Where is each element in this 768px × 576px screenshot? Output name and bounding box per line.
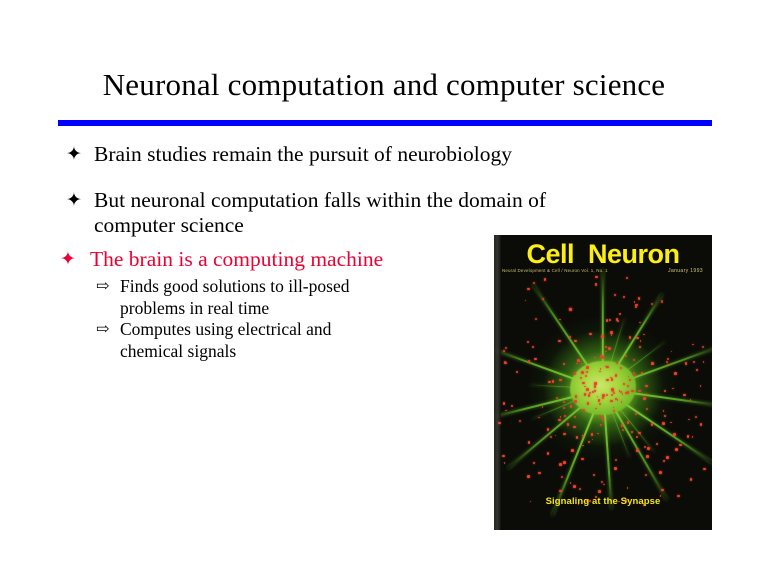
- synaptic-punctum: [638, 390, 641, 393]
- synaptic-punctum: [585, 375, 587, 377]
- synaptic-punctum: [647, 447, 650, 450]
- neuron-soma: [570, 361, 636, 415]
- synaptic-punctum: [611, 334, 613, 336]
- outline-arrow-bullet-icon: ⇨: [96, 319, 109, 341]
- synaptic-punctum: [639, 346, 642, 349]
- synaptic-punctum: [558, 340, 561, 343]
- synaptic-punctum: [600, 424, 602, 426]
- synaptic-punctum: [703, 361, 705, 363]
- synaptic-punctum: [581, 458, 584, 461]
- synaptic-punctum: [685, 362, 688, 365]
- synaptic-punctum: [581, 363, 583, 365]
- synaptic-punctum: [570, 482, 572, 484]
- synaptic-punctum: [505, 347, 507, 349]
- synaptic-punctum: [535, 318, 537, 320]
- synaptic-punctum: [651, 362, 654, 365]
- synaptic-punctum: [609, 319, 612, 322]
- synaptic-punctum: [563, 363, 566, 366]
- synaptic-punctum: [700, 385, 702, 387]
- synaptic-punctum: [667, 358, 669, 360]
- synaptic-punctum: [631, 431, 634, 434]
- synaptic-punctum: [516, 371, 519, 374]
- sub-list-item-line: chemical signals: [120, 341, 420, 363]
- slide-canvas: { "slide": { "title": "Neuronal computat…: [0, 0, 768, 576]
- sub-list-item-line: Finds good solutions to ill-posed: [120, 276, 420, 298]
- synaptic-punctum: [542, 406, 544, 408]
- synaptic-punctum: [498, 422, 501, 425]
- synaptic-punctum: [625, 355, 627, 357]
- synaptic-punctum: [659, 471, 662, 474]
- synaptic-punctum: [560, 416, 562, 418]
- synaptic-punctum: [675, 448, 678, 451]
- synaptic-punctum: [663, 410, 665, 412]
- list-item-line: Brain studies remain the pursuit of neur…: [94, 142, 768, 167]
- synaptic-punctum: [588, 394, 591, 397]
- synaptic-punctum: [690, 478, 693, 481]
- synaptic-punctum: [646, 455, 649, 458]
- synaptic-punctum: [595, 276, 598, 279]
- spacer: [0, 167, 768, 188]
- synaptic-punctum: [602, 419, 604, 421]
- synaptic-punctum: [599, 403, 601, 405]
- synaptic-punctum: [602, 356, 605, 359]
- list-item[interactable]: ✦ Brain studies remain the pursuit of ne…: [0, 142, 768, 167]
- synaptic-punctum: [635, 413, 637, 415]
- synaptic-punctum: [646, 408, 648, 410]
- synaptic-punctum: [693, 361, 695, 363]
- synaptic-punctum: [505, 410, 507, 412]
- synaptic-punctum: [636, 337, 639, 340]
- synaptic-punctum: [598, 490, 601, 493]
- synaptic-punctum: [615, 459, 617, 461]
- synaptic-punctum: [503, 402, 506, 405]
- synaptic-punctum: [703, 468, 706, 471]
- synaptic-punctum: [525, 300, 527, 302]
- synaptic-punctum: [504, 362, 507, 365]
- synaptic-punctum: [651, 303, 653, 305]
- synaptic-punctum: [550, 436, 552, 438]
- synaptic-punctum: [687, 435, 690, 438]
- synaptic-punctum: [656, 443, 659, 446]
- synaptic-punctum: [619, 313, 622, 316]
- synaptic-punctum: [664, 390, 667, 393]
- synaptic-punctum: [633, 359, 635, 361]
- synaptic-punctum: [671, 351, 673, 353]
- synaptic-punctum: [559, 463, 562, 466]
- synaptic-punctum: [571, 449, 574, 452]
- synaptic-punctum: [623, 296, 626, 299]
- cover-brand-right: Neuron: [588, 239, 680, 269]
- synaptic-punctum: [575, 395, 578, 398]
- synaptic-punctum: [580, 377, 582, 379]
- synaptic-punctum: [581, 371, 584, 374]
- synaptic-punctum: [533, 282, 535, 284]
- synaptic-punctum: [582, 409, 585, 412]
- synaptic-punctum: [577, 359, 580, 362]
- synaptic-punctum: [504, 462, 506, 464]
- synaptic-punctum: [620, 367, 622, 369]
- synaptic-punctum: [679, 444, 682, 447]
- synaptic-punctum: [563, 401, 565, 403]
- synaptic-punctum: [661, 302, 663, 304]
- synaptic-punctum: [644, 446, 646, 448]
- synaptic-punctum: [627, 421, 630, 424]
- synaptic-punctum: [569, 336, 572, 339]
- synaptic-punctum: [574, 416, 576, 418]
- synaptic-punctum: [664, 415, 667, 418]
- synaptic-punctum: [594, 357, 596, 359]
- synaptic-punctum: [561, 476, 563, 478]
- synaptic-punctum: [700, 423, 703, 426]
- title-underline-rule: [58, 120, 712, 126]
- four-pointed-star-bullet-icon: ✦: [66, 188, 82, 213]
- synaptic-punctum: [563, 407, 565, 409]
- synaptic-punctum: [692, 436, 694, 438]
- synaptic-punctum: [614, 467, 617, 470]
- synaptic-punctum: [563, 461, 566, 464]
- synaptic-punctum: [527, 475, 530, 478]
- synaptic-punctum: [595, 283, 598, 286]
- synaptic-punctum: [597, 433, 599, 435]
- synaptic-punctum: [588, 441, 591, 444]
- synaptic-punctum: [591, 433, 594, 436]
- synaptic-punctum: [629, 336, 632, 339]
- synaptic-punctum: [634, 374, 636, 376]
- synaptic-punctum: [639, 322, 641, 324]
- synaptic-punctum: [608, 347, 611, 350]
- synaptic-punctum: [605, 346, 608, 349]
- synaptic-punctum: [614, 294, 617, 297]
- list-item-line: But neuronal computation falls within th…: [94, 188, 768, 213]
- synaptic-punctum: [696, 369, 699, 372]
- page-title: Neuronal computation and computer scienc…: [0, 66, 768, 104]
- synaptic-punctum: [574, 400, 577, 403]
- synaptic-punctum: [542, 298, 544, 300]
- synaptic-punctum: [582, 445, 584, 447]
- synaptic-punctum: [570, 405, 573, 408]
- synaptic-punctum: [611, 394, 613, 396]
- synaptic-punctum: [592, 439, 594, 441]
- cover-caption: Signaling at the Synapse: [494, 496, 712, 508]
- synaptic-punctum: [558, 419, 561, 422]
- synaptic-punctum: [662, 422, 665, 425]
- synaptic-punctum: [594, 382, 597, 385]
- synaptic-punctum: [651, 423, 654, 426]
- synaptic-punctum: [579, 488, 581, 490]
- synaptic-punctum: [670, 422, 672, 424]
- cover-issue-date: January 1993: [668, 268, 703, 274]
- synaptic-punctum: [643, 397, 646, 400]
- synaptic-punctum: [695, 416, 697, 418]
- synaptic-punctum: [569, 308, 572, 311]
- synaptic-punctum: [519, 420, 521, 422]
- synaptic-punctum: [674, 372, 677, 375]
- synaptic-punctum: [538, 472, 541, 475]
- synaptic-punctum: [636, 436, 639, 439]
- synaptic-punctum: [502, 455, 505, 458]
- synaptic-punctum: [533, 462, 536, 465]
- synaptic-punctum: [538, 417, 540, 419]
- synaptic-punctum: [559, 319, 561, 321]
- synaptic-punctum: [555, 435, 557, 437]
- synaptic-punctum: [638, 297, 641, 300]
- synaptic-punctum: [547, 428, 550, 431]
- synaptic-punctum: [605, 351, 607, 353]
- synaptic-punctum: [645, 474, 647, 476]
- synaptic-punctum: [611, 388, 614, 391]
- cover-brand-title: CellNeuron: [494, 239, 712, 269]
- synaptic-punctum: [527, 341, 530, 344]
- cell-neuron-journal-cover-image: CellNeuron Neural Development & Cell / N…: [494, 235, 712, 530]
- sub-list-item-line: problems in real time: [120, 298, 420, 320]
- synaptic-punctum: [692, 344, 694, 346]
- synaptic-punctum: [559, 379, 562, 382]
- four-pointed-star-bullet-icon: ✦: [60, 247, 76, 272]
- synaptic-punctum: [622, 429, 624, 431]
- synaptic-punctum: [532, 346, 535, 349]
- synaptic-punctum: [606, 319, 609, 322]
- synaptic-punctum: [688, 419, 690, 421]
- synaptic-punctum: [593, 474, 596, 477]
- synaptic-punctum: [634, 301, 636, 303]
- synaptic-punctum: [574, 372, 577, 375]
- list-item[interactable]: ✦ But neuronal computation falls within …: [0, 188, 768, 238]
- synaptic-punctum: [559, 490, 562, 493]
- synaptic-punctum: [589, 333, 592, 336]
- synaptic-punctum: [626, 277, 629, 280]
- synaptic-punctum: [564, 415, 566, 417]
- synaptic-punctum: [606, 394, 608, 396]
- synaptic-punctum: [683, 394, 686, 397]
- synaptic-punctum: [627, 487, 629, 489]
- outline-arrow-bullet-icon: ⇨: [96, 276, 109, 298]
- synaptic-punctum: [576, 436, 579, 439]
- synaptic-punctum: [672, 388, 674, 390]
- synaptic-punctum: [534, 358, 537, 361]
- synaptic-punctum: [576, 363, 578, 365]
- synaptic-punctum: [640, 340, 642, 342]
- synaptic-punctum: [702, 346, 704, 348]
- synaptic-punctum: [573, 426, 576, 429]
- synaptic-punctum: [574, 340, 577, 343]
- neuron-micrograph: [494, 235, 712, 530]
- synaptic-punctum: [673, 433, 676, 436]
- synaptic-punctum: [528, 441, 531, 444]
- synaptic-punctum: [603, 484, 605, 486]
- cover-subtitle: Neural Development & Cell / Neuron Vol. …: [502, 268, 608, 274]
- synaptic-punctum: [645, 385, 648, 388]
- synaptic-punctum: [601, 335, 604, 338]
- synaptic-punctum: [666, 361, 668, 363]
- synaptic-punctum: [544, 278, 547, 281]
- synaptic-punctum: [636, 449, 639, 452]
- synaptic-punctum: [548, 381, 551, 384]
- synaptic-punctum: [586, 388, 589, 391]
- synaptic-punctum: [552, 380, 555, 383]
- cover-brand-left: Cell: [526, 239, 574, 269]
- synaptic-punctum: [563, 433, 566, 436]
- synaptic-punctum: [666, 456, 669, 459]
- synaptic-punctum: [511, 405, 514, 408]
- synaptic-punctum: [601, 481, 603, 483]
- four-pointed-star-bullet-icon: ✦: [66, 142, 82, 167]
- sub-list-item-line: Computes using electrical and: [120, 319, 420, 341]
- synaptic-punctum: [573, 485, 576, 488]
- synaptic-punctum: [663, 460, 666, 463]
- synaptic-punctum: [643, 334, 645, 336]
- cover-spine: [494, 235, 501, 530]
- synaptic-punctum: [547, 452, 550, 455]
- synaptic-punctum: [567, 423, 570, 426]
- synaptic-punctum: [616, 318, 619, 321]
- synaptic-punctum: [527, 288, 530, 291]
- synaptic-punctum: [586, 366, 589, 369]
